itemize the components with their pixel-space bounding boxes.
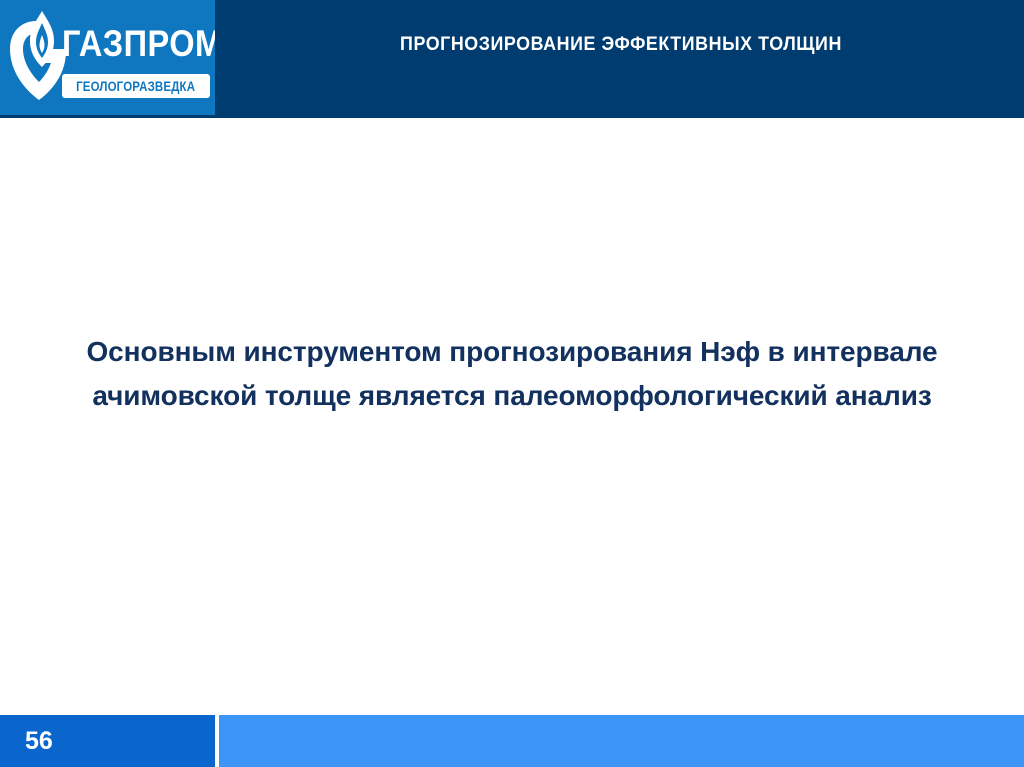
slide-body-statement: Основным инструментом прогнозирования Нэ… bbox=[30, 330, 994, 418]
footer-accent-bar bbox=[219, 715, 1024, 767]
footer-page-block: 56 bbox=[0, 715, 215, 767]
gazprom-logo-block: ГАЗПРОМ ГЕОЛОГОРАЗВЕДКА bbox=[0, 0, 215, 115]
slide-content-area: Основным инструментом прогнозирования Нэ… bbox=[0, 118, 1024, 715]
gazprom-subtitle-text: ГЕОЛОГОРАЗВЕДКА bbox=[76, 78, 195, 94]
slide-header-title: ПРОГНОЗИРОВАНИЕ ЭФФЕКТИВНЫХ ТОЛЩИН bbox=[242, 0, 1000, 118]
gazprom-subtitle-plate: ГЕОЛОГОРАЗВЕДКА bbox=[62, 74, 210, 98]
presentation-slide: ПРОГНОЗИРОВАНИЕ ЭФФЕКТИВНЫХ ТОЛЩИН ГАЗПР… bbox=[0, 0, 1024, 767]
gazprom-wordmark: ГАЗПРОМ bbox=[62, 22, 194, 66]
slide-page-number: 56 bbox=[25, 726, 53, 756]
gazprom-flame-g-icon bbox=[6, 9, 68, 104]
